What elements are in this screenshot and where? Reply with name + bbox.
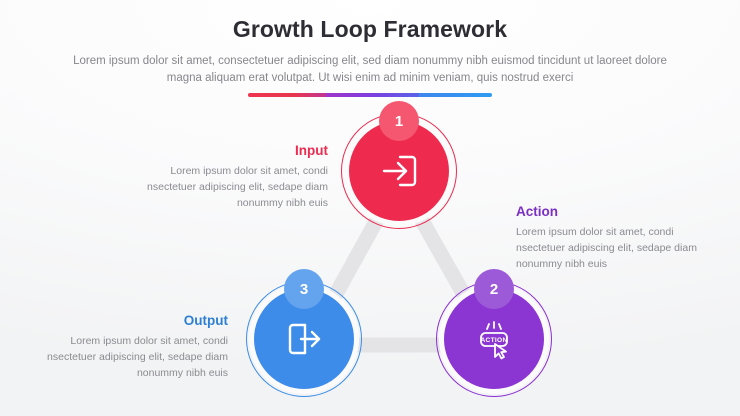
svg-text:ACTION: ACTION <box>480 337 507 344</box>
node-badge-number: 2 <box>490 281 498 298</box>
node-badge-1: 1 <box>379 101 419 141</box>
text-block-output: Output Lorem ipsum dolor sit amet, condi… <box>28 313 228 382</box>
text-block-action: Action Lorem ipsum dolor sit amet, condi… <box>516 204 716 273</box>
block-body-output: Lorem ipsum dolor sit amet, condi nsecte… <box>28 334 228 382</box>
block-heading-output: Output <box>28 313 228 329</box>
node-badge-3: 3 <box>284 269 324 309</box>
block-heading-action: Action <box>516 204 716 220</box>
node-output[interactable]: 3 <box>246 281 362 397</box>
node-input[interactable]: 1 <box>341 113 457 229</box>
node-action[interactable]: ACTION 2 <box>436 281 552 397</box>
infographic-slide: Growth Loop Framework Lorem ipsum dolor … <box>0 0 740 416</box>
block-heading-input: Input <box>128 143 328 159</box>
node-badge-number: 3 <box>300 281 308 298</box>
node-badge-2: 2 <box>474 269 514 309</box>
block-body-action: Lorem ipsum dolor sit amet, condi nsecte… <box>516 225 716 273</box>
node-badge-number: 1 <box>395 113 403 130</box>
logout-arrow-icon <box>281 316 327 362</box>
login-arrow-icon <box>376 148 422 194</box>
text-block-input: Input Lorem ipsum dolor sit amet, condi … <box>128 143 328 212</box>
action-button-click-icon: ACTION <box>470 315 518 363</box>
block-body-input: Lorem ipsum dolor sit amet, condi nsecte… <box>128 164 328 212</box>
